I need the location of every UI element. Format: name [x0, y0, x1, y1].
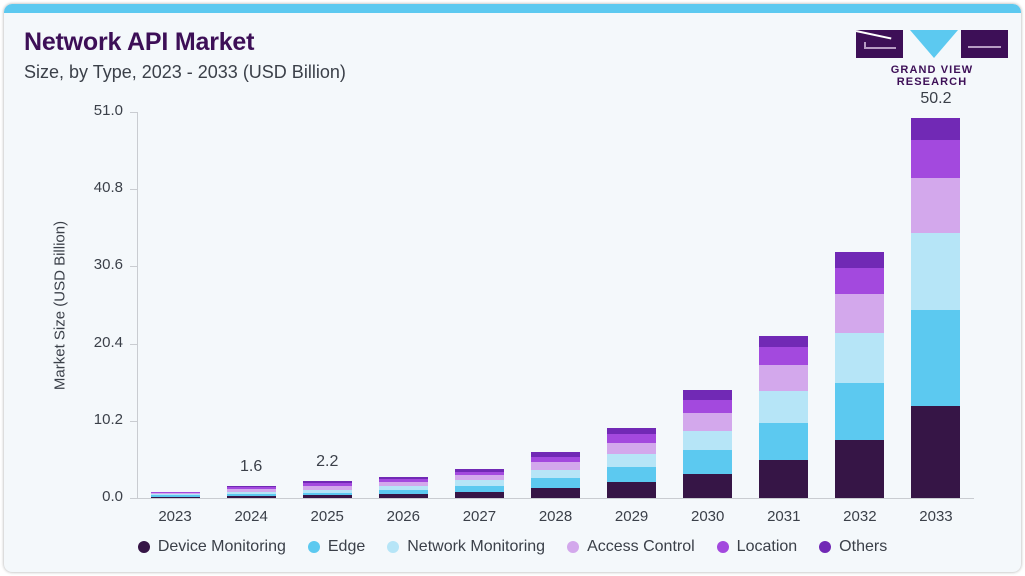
bar-segment[interactable] — [911, 178, 960, 233]
y-axis-title: Market Size (USD Billion) — [52, 176, 69, 436]
x-axis-label: 2025 — [290, 508, 364, 525]
page-title: Network API Market — [24, 28, 254, 57]
x-axis-label: 2030 — [671, 508, 745, 525]
logo-r-block-icon — [961, 30, 1008, 58]
bar-segment[interactable] — [607, 454, 656, 467]
y-axis-tick — [130, 344, 137, 345]
bar-2030[interactable] — [683, 390, 732, 498]
bar-2031[interactable] — [759, 336, 808, 498]
bar-2033[interactable] — [911, 118, 960, 498]
bar-segment[interactable] — [835, 333, 884, 383]
page-subtitle: Size, by Type, 2023 - 2033 (USD Billion) — [24, 62, 346, 83]
bar-segment[interactable] — [759, 423, 808, 460]
bar-segment[interactable] — [607, 443, 656, 454]
bar-segment[interactable] — [607, 428, 656, 435]
bar-2032[interactable] — [835, 252, 884, 498]
bar-segment[interactable] — [759, 365, 808, 391]
y-axis-tick — [130, 498, 137, 499]
logo-v-triangle-icon — [910, 30, 958, 58]
bar-value-label: 50.2 — [901, 90, 971, 108]
legend-swatch-icon — [567, 541, 579, 553]
bar-2027[interactable] — [455, 469, 504, 498]
top-accent-bar — [4, 4, 1021, 13]
bar-segment[interactable] — [835, 383, 884, 441]
legend-item-network-monitoring[interactable]: Network Monitoring — [387, 538, 545, 556]
legend-swatch-icon — [308, 541, 320, 553]
bar-segment[interactable] — [835, 268, 884, 294]
bar-segment[interactable] — [455, 492, 504, 498]
y-axis-tick — [130, 421, 137, 422]
legend-label: Edge — [328, 538, 365, 556]
bar-segment[interactable] — [835, 440, 884, 498]
x-axis-label: 2023 — [138, 508, 212, 525]
bar-segment[interactable] — [303, 495, 352, 498]
bar-segment[interactable] — [911, 118, 960, 140]
x-axis-label: 2032 — [823, 508, 897, 525]
bar-segment[interactable] — [759, 336, 808, 347]
bar-segment[interactable] — [683, 413, 732, 430]
bar-segment[interactable] — [911, 140, 960, 178]
logo-g-bar-icon — [864, 47, 896, 49]
bar-segment[interactable] — [683, 400, 732, 413]
bar-segment[interactable] — [531, 488, 580, 498]
legend-item-device-monitoring[interactable]: Device Monitoring — [138, 538, 286, 556]
legend-label: Network Monitoring — [407, 538, 545, 556]
bar-segment[interactable] — [683, 450, 732, 473]
chart-card: Network API Market Size, by Type, 2023 -… — [4, 4, 1021, 572]
chart-legend: Device MonitoringEdgeNetwork MonitoringA… — [4, 538, 1021, 556]
bar-segment[interactable] — [683, 390, 732, 401]
bar-segment[interactable] — [531, 478, 580, 488]
bar-segment[interactable] — [835, 252, 884, 268]
bar-segment[interactable] — [607, 434, 656, 442]
logo-r-bar-icon — [968, 46, 1001, 48]
legend-item-access-control[interactable]: Access Control — [567, 538, 695, 556]
bar-2029[interactable] — [607, 428, 656, 498]
bar-segment[interactable] — [683, 474, 732, 498]
plot-area: 202320241.620252.22026202720282029203020… — [137, 112, 974, 498]
logo-wordmark: GRAND VIEW RESEARCH — [856, 64, 1008, 88]
bar-2024[interactable] — [227, 486, 276, 498]
legend-label: Location — [737, 538, 798, 556]
logo-g-stem-icon — [864, 42, 866, 49]
x-axis-label: 2026 — [366, 508, 440, 525]
legend-label: Access Control — [587, 538, 695, 556]
bar-segment[interactable] — [531, 470, 580, 478]
x-axis-label: 2027 — [442, 508, 516, 525]
bar-segment[interactable] — [911, 406, 960, 498]
legend-item-others[interactable]: Others — [819, 538, 887, 556]
bar-2025[interactable] — [303, 481, 352, 498]
bar-segment[interactable] — [759, 391, 808, 423]
bar-segment[interactable] — [911, 233, 960, 309]
legend-swatch-icon — [717, 541, 729, 553]
legend-label: Others — [839, 538, 887, 556]
bar-segment[interactable] — [531, 462, 580, 470]
bar-segment[interactable] — [607, 467, 656, 482]
y-axis-line — [137, 112, 138, 498]
bar-segment[interactable] — [151, 497, 200, 498]
bar-segment[interactable] — [911, 310, 960, 406]
y-axis-tick — [130, 189, 137, 190]
x-axis-label: 2033 — [899, 508, 973, 525]
x-axis-label: 2029 — [595, 508, 669, 525]
bar-value-label: 2.2 — [292, 453, 362, 471]
bar-2026[interactable] — [379, 477, 428, 498]
y-axis-title-wrap: Market Size (USD Billion) — [48, 112, 72, 498]
grand-view-research-logo: GRAND VIEW RESEARCH — [856, 30, 1008, 80]
x-axis-label: 2024 — [214, 508, 288, 525]
bar-2028[interactable] — [531, 452, 580, 498]
legend-label: Device Monitoring — [158, 538, 286, 556]
x-axis-label: 2028 — [519, 508, 593, 525]
bar-segment[interactable] — [227, 496, 276, 498]
legend-item-location[interactable]: Location — [717, 538, 798, 556]
legend-item-edge[interactable]: Edge — [308, 538, 365, 556]
bar-segment[interactable] — [759, 460, 808, 498]
bar-segment[interactable] — [683, 431, 732, 451]
bar-segment[interactable] — [607, 482, 656, 498]
bar-value-label: 1.6 — [216, 458, 286, 476]
bar-segment[interactable] — [835, 294, 884, 333]
x-axis-label: 2031 — [747, 508, 821, 525]
legend-swatch-icon — [387, 541, 399, 553]
legend-swatch-icon — [819, 541, 831, 553]
bar-segment[interactable] — [759, 347, 808, 365]
bar-segment[interactable] — [379, 494, 428, 498]
bar-2023[interactable] — [151, 492, 200, 498]
y-axis-tick — [130, 112, 137, 113]
legend-swatch-icon — [138, 541, 150, 553]
x-axis-line — [137, 498, 974, 499]
y-axis-tick — [130, 266, 137, 267]
